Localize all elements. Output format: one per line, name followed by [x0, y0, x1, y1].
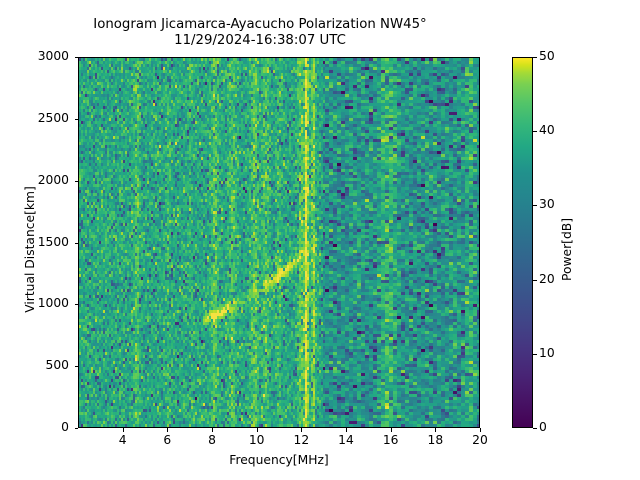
colorbar-tick-label: 40	[539, 123, 555, 137]
x-tick-mark	[257, 428, 258, 432]
y-tick-label: 2000	[9, 173, 69, 187]
x-tick-mark	[391, 428, 392, 432]
ionogram-plot-area	[78, 57, 480, 428]
title-line-1: Ionogram Jicamarca-Ayacucho Polarization…	[0, 17, 520, 33]
colorbar-tick-mark	[533, 57, 537, 58]
colorbar-tick-label: 50	[539, 49, 555, 63]
x-tick-label: 8	[192, 433, 232, 447]
x-tick-label: 12	[281, 433, 321, 447]
x-tick-mark	[301, 428, 302, 432]
x-tick-mark	[167, 428, 168, 432]
x-tick-label: 16	[371, 433, 411, 447]
colorbar-tick-mark	[533, 354, 537, 355]
x-tick-label: 6	[147, 433, 187, 447]
x-tick-mark	[212, 428, 213, 432]
colorbar-tick-label: 30	[539, 197, 555, 211]
y-tick-mark	[75, 57, 79, 58]
colorbar-tick-label: 0	[539, 420, 547, 434]
y-tick-label: 3000	[9, 49, 69, 63]
y-tick-mark	[75, 366, 79, 367]
y-tick-mark	[75, 243, 79, 244]
colorbar-tick-mark	[533, 205, 537, 206]
y-tick-label: 1500	[9, 235, 69, 249]
ionogram-heatmap-canvas	[79, 58, 479, 427]
y-tick-label: 2500	[9, 111, 69, 125]
power-colorbar	[512, 57, 533, 428]
y-tick-mark	[75, 304, 79, 305]
y-tick-label: 500	[9, 358, 69, 372]
ionogram-figure: Ionogram Jicamarca-Ayacucho Polarization…	[0, 0, 640, 480]
colorbar-tick-label: 20	[539, 272, 555, 286]
x-tick-mark	[435, 428, 436, 432]
x-tick-mark	[480, 428, 481, 432]
x-tick-label: 18	[415, 433, 455, 447]
x-axis-label: Frequency[MHz]	[78, 453, 480, 467]
x-tick-mark	[123, 428, 124, 432]
colorbar-tick-label: 10	[539, 346, 555, 360]
colorbar-tick-mark	[533, 280, 537, 281]
y-tick-label: 0	[9, 420, 69, 434]
y-tick-label: 1000	[9, 296, 69, 310]
x-tick-label: 14	[326, 433, 366, 447]
page-title: Ionogram Jicamarca-Ayacucho Polarization…	[0, 17, 520, 49]
x-tick-label: 10	[237, 433, 277, 447]
x-tick-label: 20	[460, 433, 500, 447]
x-tick-mark	[346, 428, 347, 432]
x-tick-label: 4	[103, 433, 143, 447]
colorbar-tick-mark	[533, 428, 537, 429]
y-tick-mark	[75, 119, 79, 120]
y-tick-mark	[75, 181, 79, 182]
colorbar-label: Power[dB]	[560, 64, 574, 435]
title-line-2: 11/29/2024-16:38:07 UTC	[0, 33, 520, 49]
y-tick-mark	[75, 428, 79, 429]
colorbar-tick-mark	[533, 131, 537, 132]
y-axis-label: Virtual Distance[km]	[23, 64, 37, 435]
